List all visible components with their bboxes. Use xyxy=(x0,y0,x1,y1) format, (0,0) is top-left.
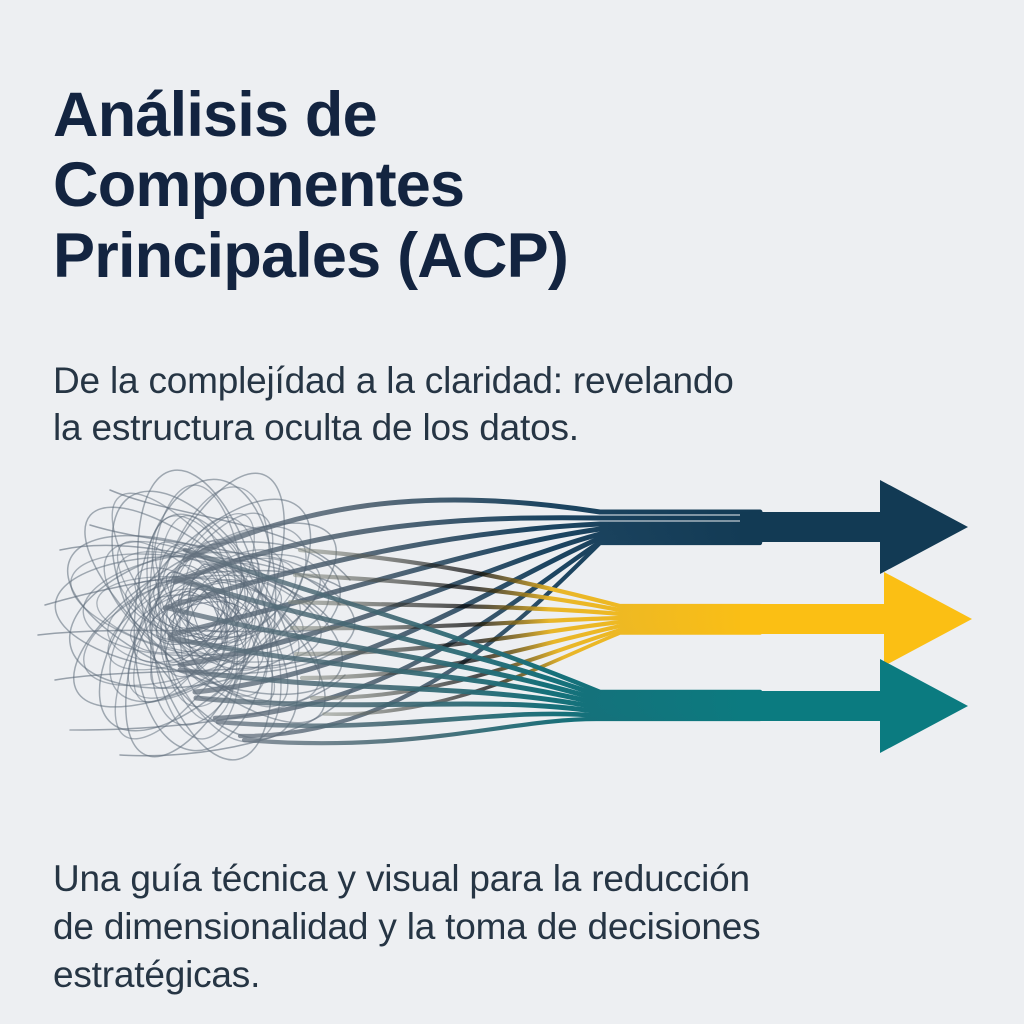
footer-text: Una guía técnica y visual para la reducc… xyxy=(53,855,943,999)
arrow-component-3 xyxy=(740,659,968,753)
poster-canvas: Análisis de Componentes Principales (ACP… xyxy=(0,0,1024,1024)
pca-illustration xyxy=(0,430,1024,800)
arrow-component-2 xyxy=(740,572,972,666)
arrow-component-1 xyxy=(740,480,968,574)
page-title: Análisis de Componentes Principales (ACP… xyxy=(53,80,893,291)
